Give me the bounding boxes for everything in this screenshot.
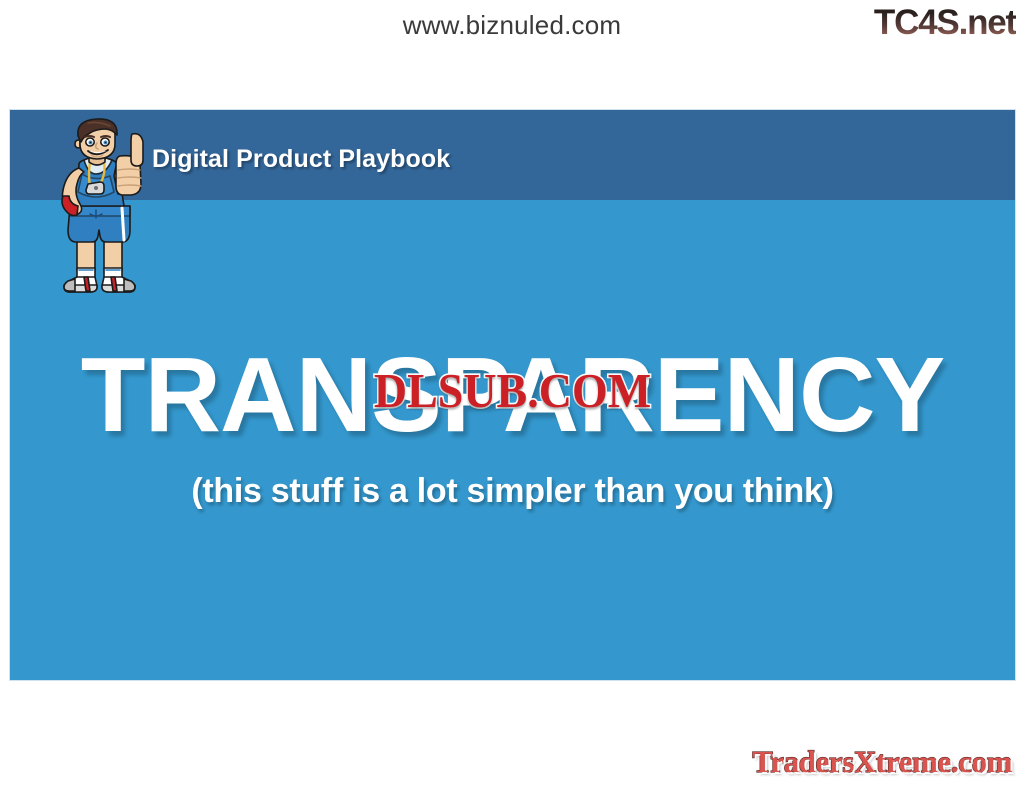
subheadline-text: (this stuff is a lot simpler than you th…	[191, 472, 833, 510]
site-url-text: www.biznuled.com	[0, 10, 1024, 41]
subheadline-container: (this stuff is a lot simpler than you th…	[10, 472, 1015, 510]
headline-container: TRANSPARENCY	[10, 342, 1015, 448]
tc4s-brand-logo: TC4S.net	[874, 3, 1016, 43]
top-bar: www.biznuled.com TC4S.net	[0, 0, 1024, 95]
mascot-coach-thumbs-up-icon	[44, 118, 154, 300]
headline-text: TRANSPARENCY	[81, 342, 945, 448]
presentation-slide: Digital Product Playbook TRANSPARENCY DL…	[10, 110, 1015, 680]
slide-title: Digital Product Playbook	[152, 145, 450, 174]
tradersxtreme-brand-logo: TradersXtreme.com	[752, 745, 1012, 779]
footer-bar: TradersXtreme.com	[0, 680, 1024, 791]
